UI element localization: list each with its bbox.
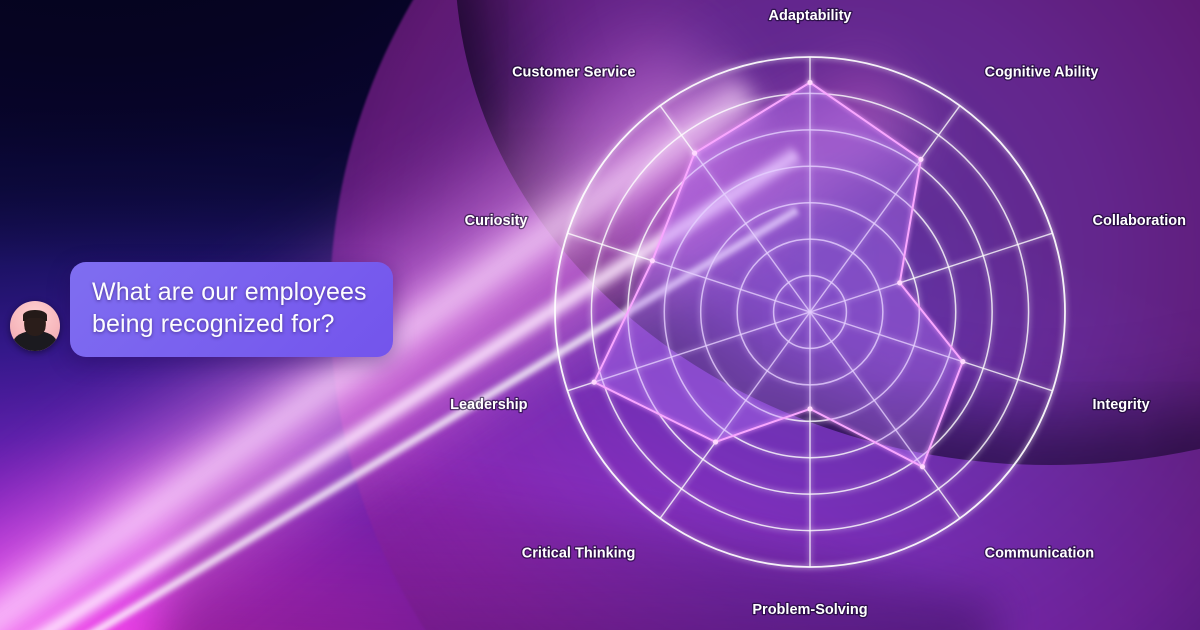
radar-axis-label-leadership: Leadership	[450, 397, 527, 413]
radar-axis-label-customer-service: Customer Service	[512, 65, 635, 81]
avatar[interactable]	[10, 301, 60, 351]
radar-axis-label-adaptability: Adaptability	[769, 8, 852, 24]
radar-axis-label-problem-solving: Problem-Solving	[752, 602, 867, 618]
avatar-beard-shape	[25, 318, 46, 336]
radar-axis-label-communication: Communication	[985, 545, 1095, 561]
screenshot-stage: AdaptabilityCognitive AbilityCollaborati…	[0, 0, 1200, 630]
chat-bubble[interactable]: What are our employees being recognized …	[70, 262, 393, 357]
chat-message: What are our employees being recognized …	[10, 262, 393, 357]
radar-axis-label-cognitive-ability: Cognitive Ability	[985, 65, 1099, 81]
radar-series	[592, 80, 966, 469]
radar-axis-label-integrity: Integrity	[1093, 397, 1150, 413]
radar-axis-label-critical-thinking: Critical Thinking	[522, 545, 636, 561]
chat-bubble-text: What are our employees being recognized …	[92, 277, 367, 340]
radar-axis-label-curiosity: Curiosity	[465, 213, 528, 229]
radar-axis-label-collaboration: Collaboration	[1093, 213, 1186, 229]
